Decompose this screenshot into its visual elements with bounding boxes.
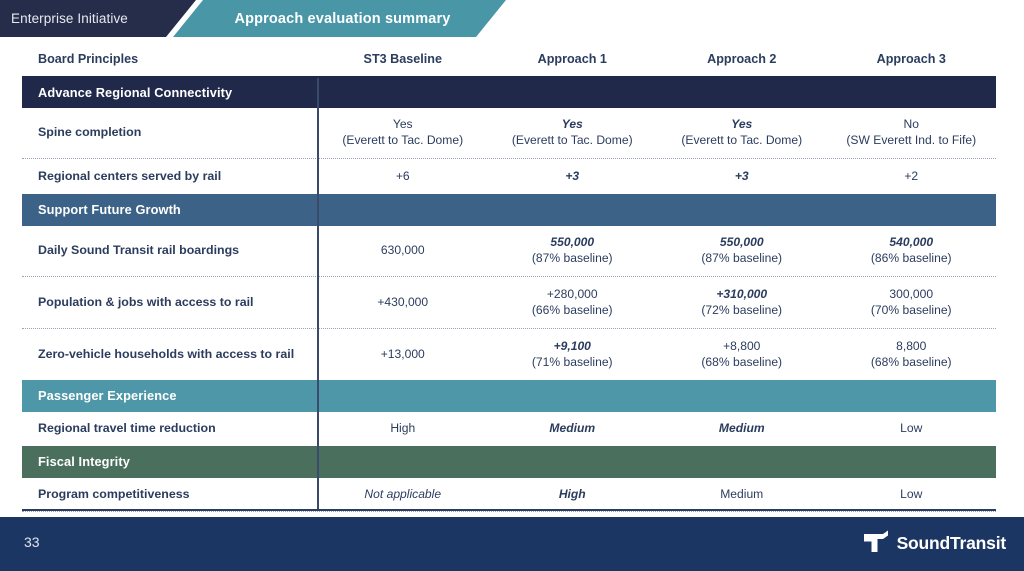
page-number: 33: [24, 534, 40, 550]
table-row: Zero-vehicle households with access to r…: [22, 330, 996, 380]
cell-secondary-value: (70% baseline): [831, 303, 993, 319]
cell-value: High: [318, 412, 488, 446]
cell-primary-value: Low: [831, 421, 993, 437]
table-row: Spine completionYes(Everett to Tac. Dome…: [22, 108, 996, 158]
cell-value: +6: [318, 160, 488, 194]
cell-value: Yes(Everett to Tac. Dome): [318, 108, 488, 158]
cell-primary-value: 540,000: [831, 235, 993, 251]
sound-transit-logo: SoundTransit: [862, 530, 1006, 556]
cell-value: Low: [827, 478, 997, 512]
cell-primary-value: 8,800: [831, 339, 993, 355]
cell-value: 550,000(87% baseline): [488, 226, 658, 276]
table-row: Program competitivenessNot applicableHig…: [22, 478, 996, 512]
cell-primary-value: +2: [831, 169, 993, 185]
section-header-fiscal-integrity: Fiscal Integrity: [22, 446, 996, 478]
cell-value: Medium: [657, 478, 827, 512]
section-title: Passenger Experience: [22, 380, 996, 412]
cell-value: Medium: [488, 412, 658, 446]
cell-primary-value: Medium: [661, 487, 823, 503]
cell-primary-value: Low: [831, 487, 993, 503]
table-row: Regional centers served by rail+6+3+3+2: [22, 160, 996, 194]
principle-column-divider: [317, 78, 319, 509]
cell-value: Low: [827, 412, 997, 446]
cell-primary-value: +8,800: [661, 339, 823, 355]
cell-primary-value: +3: [492, 169, 654, 185]
cell-secondary-value: (SW Everett Ind. to Fife): [831, 133, 993, 149]
cell-value: Yes(Everett to Tac. Dome): [657, 108, 827, 158]
cell-primary-value: 300,000: [831, 287, 993, 303]
column-header-approach-3: Approach 3: [827, 52, 997, 76]
cell-value: +9,100(71% baseline): [488, 330, 658, 380]
cell-primary-value: +430,000: [322, 295, 484, 311]
cell-primary-value: Yes: [661, 117, 823, 133]
cell-primary-value: Medium: [661, 421, 823, 437]
principle-label-daily-sound-transit-rail-boardings: Daily Sound Transit rail boardings: [22, 226, 318, 276]
section-header-support-future-growth: Support Future Growth: [22, 194, 996, 226]
ribbon-initiative-tab: Enterprise Initiative: [0, 0, 196, 37]
cell-value: High: [488, 478, 658, 512]
wordmark-transit: Transit: [950, 533, 1006, 553]
column-header-approach-1: Approach 1: [488, 52, 658, 76]
slide-title: Approach evaluation summary: [229, 11, 451, 27]
cell-value: +8,800(68% baseline): [657, 330, 827, 380]
principle-label-zero-vehicle-households-with-access-to-rail: Zero-vehicle households with access to r…: [22, 330, 318, 380]
cell-primary-value: +9,100: [492, 339, 654, 355]
cell-primary-value: +280,000: [492, 287, 654, 303]
ribbon-initiative-label: Enterprise Initiative: [0, 11, 128, 26]
cell-primary-value: +3: [661, 169, 823, 185]
cell-value: +2: [827, 160, 997, 194]
cell-value: 550,000(87% baseline): [657, 226, 827, 276]
cell-primary-value: 630,000: [322, 243, 484, 259]
cell-primary-value: 550,000: [661, 235, 823, 251]
column-header-st3-baseline: ST3 Baseline: [318, 52, 488, 76]
sound-transit-mark-icon: [862, 530, 890, 556]
principle-label-regional-travel-time-reduction: Regional travel time reduction: [22, 412, 318, 446]
cell-value: +3: [657, 160, 827, 194]
cell-value: 300,000(70% baseline): [827, 278, 997, 328]
cell-primary-value: High: [492, 487, 654, 503]
table-bottom-rule: [22, 509, 996, 511]
cell-primary-value: Yes: [492, 117, 654, 133]
cell-secondary-value: (71% baseline): [492, 355, 654, 371]
section-header-advance-regional-connectivity: Advance Regional Connectivity: [22, 76, 996, 108]
ribbon-title-tab: Approach evaluation summary: [173, 0, 506, 37]
table-row: Regional travel time reductionHighMedium…: [22, 412, 996, 446]
cell-primary-value: +310,000: [661, 287, 823, 303]
section-title: Fiscal Integrity: [22, 446, 996, 478]
cell-value: +280,000(66% baseline): [488, 278, 658, 328]
cell-value: +310,000(72% baseline): [657, 278, 827, 328]
column-header-board-principles: Board Principles: [22, 52, 318, 76]
cell-primary-value: High: [322, 421, 484, 437]
cell-secondary-value: (Everett to Tac. Dome): [492, 133, 654, 149]
sound-transit-wordmark: SoundTransit: [897, 533, 1006, 554]
cell-secondary-value: (87% baseline): [661, 251, 823, 267]
header-ribbon: Enterprise Initiative Approach evaluatio…: [0, 0, 1024, 37]
slide-footer: 33 SoundTransit: [0, 517, 1024, 571]
cell-value: +3: [488, 160, 658, 194]
principle-label-spine-completion: Spine completion: [22, 108, 318, 158]
principle-label-regional-centers-served-by-rail: Regional centers served by rail: [22, 160, 318, 194]
cell-value: Medium: [657, 412, 827, 446]
cell-primary-value: Yes: [322, 117, 484, 133]
approach-evaluation-table: Board Principles ST3 Baseline Approach 1…: [22, 52, 996, 547]
table-column-header-row: Board Principles ST3 Baseline Approach 1…: [22, 52, 996, 76]
cell-primary-value: +13,000: [322, 347, 484, 363]
column-header-approach-2: Approach 2: [657, 52, 827, 76]
cell-primary-value: +6: [322, 169, 484, 185]
principle-label-program-competitiveness: Program competitiveness: [22, 478, 318, 512]
cell-value: No(SW Everett Ind. to Fife): [827, 108, 997, 158]
table-row: Population & jobs with access to rail+43…: [22, 278, 996, 328]
cell-secondary-value: (68% baseline): [831, 355, 993, 371]
cell-value: 8,800(68% baseline): [827, 330, 997, 380]
cell-secondary-value: (86% baseline): [831, 251, 993, 267]
cell-primary-value: Not applicable: [322, 487, 484, 503]
principle-label-population-jobs-with-access-to-rail: Population & jobs with access to rail: [22, 278, 318, 328]
cell-value: +430,000: [318, 278, 488, 328]
cell-primary-value: 550,000: [492, 235, 654, 251]
cell-value: +13,000: [318, 330, 488, 380]
cell-value: Yes(Everett to Tac. Dome): [488, 108, 658, 158]
cell-secondary-value: (66% baseline): [492, 303, 654, 319]
cell-secondary-value: (Everett to Tac. Dome): [322, 133, 484, 149]
cell-secondary-value: (68% baseline): [661, 355, 823, 371]
table-body: Advance Regional ConnectivitySpine compl…: [22, 76, 996, 547]
wordmark-sound: Sound: [897, 533, 950, 553]
cell-secondary-value: (Everett to Tac. Dome): [661, 133, 823, 149]
cell-primary-value: Medium: [492, 421, 654, 437]
cell-secondary-value: (87% baseline): [492, 251, 654, 267]
cell-value: 630,000: [318, 226, 488, 276]
section-title: Advance Regional Connectivity: [22, 76, 996, 108]
cell-value: Not applicable: [318, 478, 488, 512]
cell-value: 540,000(86% baseline): [827, 226, 997, 276]
section-title: Support Future Growth: [22, 194, 996, 226]
cell-secondary-value: (72% baseline): [661, 303, 823, 319]
table-row: Daily Sound Transit rail boardings630,00…: [22, 226, 996, 276]
cell-primary-value: No: [831, 117, 993, 133]
section-header-passenger-experience: Passenger Experience: [22, 380, 996, 412]
